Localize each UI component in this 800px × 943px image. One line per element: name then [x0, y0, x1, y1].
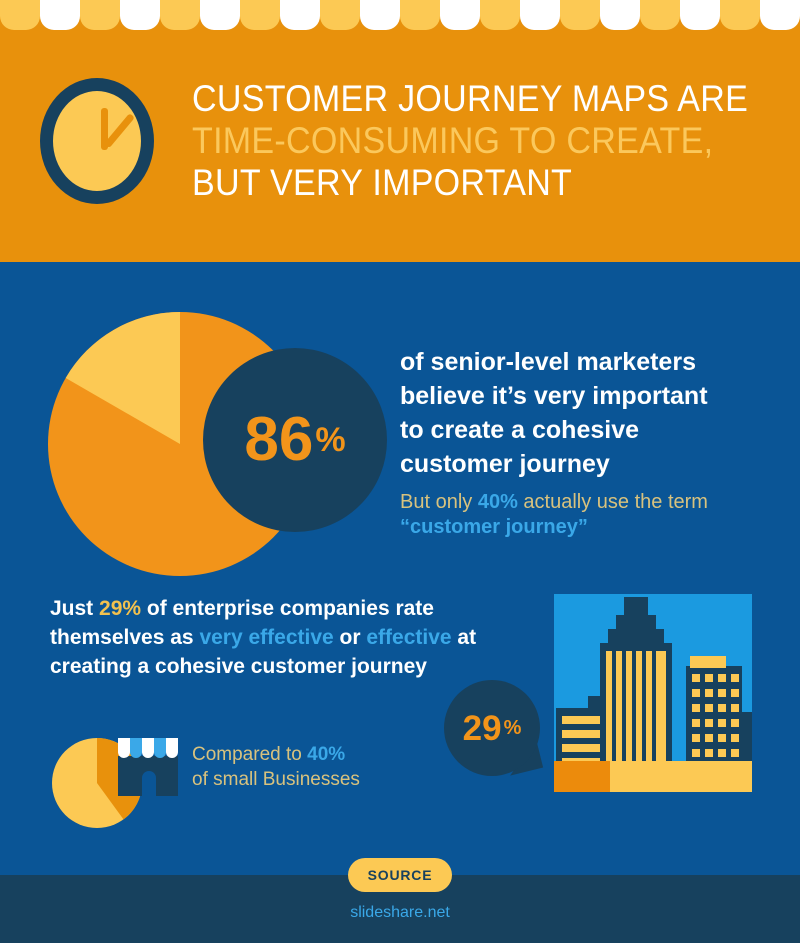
scallop [240, 0, 280, 30]
shop-scallop [166, 738, 178, 758]
infographic-root: CUSTOMER JOURNEY MAPS ARE TIME-CONSUMING… [0, 0, 800, 943]
page-title: CUSTOMER JOURNEY MAPS ARE TIME-CONSUMING… [192, 78, 772, 204]
compare-text-b: of small Businesses [192, 769, 360, 790]
title-line-3: BUT VERY IMPORTANT [192, 162, 726, 204]
scallop [400, 0, 440, 30]
city-skyline-icon [554, 594, 752, 792]
bubble-percent-sign: % [313, 423, 345, 457]
scallop [520, 0, 560, 30]
storefront-svg [112, 734, 184, 796]
scallop [360, 0, 400, 30]
shop-scallop [118, 738, 130, 758]
city-skyline-svg [554, 594, 752, 792]
clock-icon [40, 78, 168, 218]
scallop [600, 0, 640, 30]
subnote-text-b: actually use the term [518, 491, 708, 513]
awning-scallop-strip [0, 0, 800, 30]
statement-line-1: of senior-level marketers [400, 345, 770, 379]
tower-spire [624, 597, 648, 615]
right-building-cap [690, 656, 726, 668]
source-link[interactable]: slideshare.net [0, 904, 800, 922]
scallop [720, 0, 760, 30]
bubble-value: 29 [463, 711, 502, 746]
scallop [760, 0, 800, 30]
enterprise-highlight-29: 29% [99, 597, 141, 620]
ground-right [610, 761, 752, 792]
source-button[interactable]: SOURCE [348, 858, 452, 892]
shop-door [142, 771, 156, 796]
enterprise-statement: Just 29% of enterprise companies rate th… [50, 594, 480, 681]
scallop [440, 0, 480, 30]
ground-left [554, 761, 610, 792]
compare-highlight-40: 40% [307, 744, 345, 765]
senior-marketers-subnote: But only 40% actually use the term “cust… [400, 490, 770, 540]
enterprise-highlight-effective: effective [366, 626, 451, 649]
scallop [280, 0, 320, 30]
subnote-highlight-40: 40% [478, 491, 518, 513]
shop-scallop [154, 738, 166, 758]
scallop [120, 0, 160, 30]
scallop [640, 0, 680, 30]
clock-face [40, 78, 154, 204]
statement-line-3: to create a cohesive [400, 413, 770, 447]
title-line-1: CUSTOMER JOURNEY MAPS ARE [192, 78, 726, 120]
subnote-text-a: But only [400, 491, 478, 513]
bubble-value-group: 86% [203, 348, 387, 532]
statement-line-4: customer journey [400, 447, 770, 481]
scallop [0, 0, 40, 30]
tower-crown-upper [616, 615, 656, 629]
scallop [560, 0, 600, 30]
scallop [320, 0, 360, 30]
shop-awning [118, 738, 178, 758]
shop-scallop [130, 738, 142, 758]
bubble-value: 86 [244, 409, 313, 471]
statement-line-2: believe it’s very important [400, 379, 770, 413]
subnote-highlight-term: “customer journey” [400, 516, 588, 538]
senior-marketers-statement: of senior-level marketers believe it’s v… [400, 345, 770, 481]
compare-text-a: Compared to [192, 744, 307, 765]
scallop [480, 0, 520, 30]
title-line-2: TIME-CONSUMING TO CREATE, [192, 120, 726, 162]
enterprise-highlight-very-effective: very effective [199, 626, 333, 649]
enterprise-text-c: or [334, 626, 367, 649]
scallop [160, 0, 200, 30]
scallop [680, 0, 720, 30]
small-business-statement: Compared to 40% of small Businesses [192, 742, 492, 792]
bubble-percent-sign: % [502, 718, 522, 738]
header-banner: CUSTOMER JOURNEY MAPS ARE TIME-CONSUMING… [0, 0, 800, 262]
storefront-icon [112, 734, 184, 796]
shop-scallop [142, 738, 154, 758]
scallop [200, 0, 240, 30]
scallop [80, 0, 120, 30]
speech-bubble-86-percent: 86% [203, 348, 387, 532]
enterprise-text-a: Just [50, 597, 99, 620]
scallop [40, 0, 80, 30]
tower-crown-lower [608, 629, 664, 643]
